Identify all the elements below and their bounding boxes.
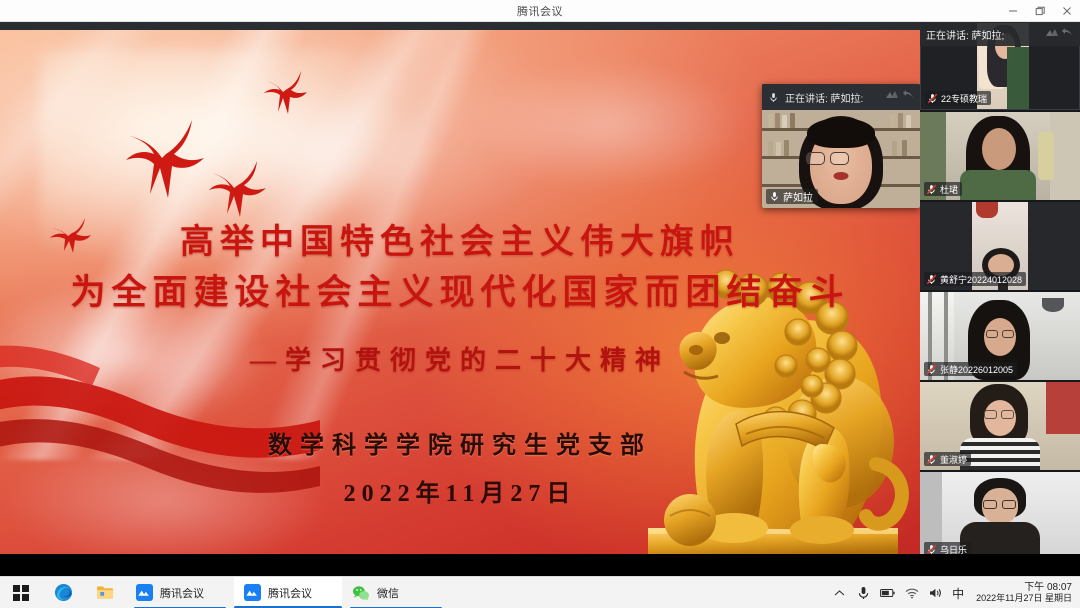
pip-speaking-label: 正在讲话: 萨如拉: — [785, 90, 863, 105]
windows-taskbar: 腾讯会议 腾讯会议 微信 — [0, 576, 1080, 608]
battery-icon[interactable] — [880, 586, 895, 601]
active-speaker-pip[interactable]: 正在讲话: 萨如拉: — [762, 84, 920, 208]
slide-organization: 数学科学学院研究生党支部 — [0, 425, 920, 460]
clock-date: 2022年11月27日 星期日 — [976, 593, 1072, 604]
clock-time: 下午 08:07 — [976, 582, 1072, 593]
system-tray: 中 下午 08:07 2022年11月27日 星期日 — [832, 577, 1080, 608]
pip-speaker-name: 萨如拉 — [783, 189, 813, 204]
close-button[interactable] — [1053, 0, 1080, 22]
microphone-icon — [768, 92, 779, 103]
mic-muted-icon — [926, 454, 937, 465]
tencent-meeting-icon — [244, 584, 261, 601]
wechat-icon — [352, 585, 370, 601]
participant-tile[interactable]: 黄舒宁20224012028 — [920, 202, 1080, 290]
taskbar-app-label: 腾讯会议 — [160, 585, 204, 601]
tencent-meeting-window: 腾讯会议 — [0, 0, 1080, 608]
slide-title-line2: 为全面建设社会主义现代化国家而团结奋斗 — [0, 264, 920, 315]
participant-name-chip: 张静20226012005 — [924, 362, 1017, 376]
collapse-icon[interactable] — [885, 89, 899, 101]
ime-indicator[interactable]: 中 — [952, 585, 964, 602]
mic-muted-icon — [926, 544, 937, 555]
participant-name-chip: 杜珺 — [924, 182, 962, 196]
slide-subtitle: —学习贯彻党的二十大精神 — [0, 340, 920, 377]
rail-speaking-label: 正在讲话: 萨如拉; — [926, 27, 1004, 42]
eyeglasses-icon — [830, 152, 849, 165]
window-titlebar: 腾讯会议 — [0, 0, 1080, 22]
edge-browser-icon[interactable] — [42, 577, 84, 608]
participant-name: 黄舒宁20224012028 — [940, 273, 1022, 286]
collapse-icon[interactable] — [1045, 27, 1059, 39]
participant-tile[interactable]: 董淑婷 — [920, 382, 1080, 470]
pip-video: 萨如拉 — [762, 110, 920, 208]
slide-date: 2022年11月27日 — [0, 473, 920, 508]
participant-name: 董淑婷 — [940, 453, 967, 466]
taskbar-clock[interactable]: 下午 08:07 2022年11月27日 星期日 — [973, 582, 1072, 604]
participant-tile[interactable]: 张静20226012005 — [920, 292, 1080, 380]
back-arrow-icon[interactable] — [1062, 27, 1074, 39]
taskbar-app-tencent-meeting-2[interactable]: 腾讯会议 — [234, 577, 342, 608]
pip-header: 正在讲话: 萨如拉: — [762, 84, 920, 110]
taskbar-app-label: 腾讯会议 — [268, 585, 312, 601]
start-button[interactable] — [0, 577, 42, 608]
participant-name: 22专硕教瑞 — [941, 92, 987, 105]
participant-name-chip: 董淑婷 — [924, 452, 971, 466]
taskbar-app-tencent-meeting-1[interactable]: 腾讯会议 — [126, 577, 234, 608]
file-explorer-icon[interactable] — [84, 577, 126, 608]
show-hidden-icons-chevron[interactable] — [832, 586, 847, 601]
participant-name-chip: 乌日乐 — [924, 542, 971, 554]
shared-screen-stage[interactable]: 高举中国特色社会主义伟大旗帜 为全面建设社会主义现代化国家而团结奋斗 —学习贯彻… — [0, 22, 920, 554]
mic-muted-icon — [926, 184, 937, 195]
eyeglasses-icon — [806, 152, 825, 165]
back-arrow-icon[interactable] — [903, 89, 915, 101]
tencent-meeting-icon — [136, 584, 153, 601]
window-controls — [999, 0, 1080, 22]
participant-tile[interactable]: 乌日乐 — [920, 472, 1080, 554]
rail-speaking-banner: 正在讲话: 萨如拉; — [920, 22, 1080, 46]
mic-muted-icon — [926, 364, 937, 375]
pip-name-chip: 萨如拉 — [766, 189, 818, 204]
participant-name-chip: 22专硕教瑞 — [925, 91, 991, 105]
mic-muted-icon — [927, 93, 938, 104]
participant-name-chip: 黄舒宁20224012028 — [924, 272, 1026, 286]
volume-icon[interactable] — [928, 586, 943, 601]
rail-banner-icons[interactable] — [1045, 27, 1074, 39]
window-title: 腾讯会议 — [517, 3, 563, 19]
taskbar-app-wechat[interactable]: 微信 — [342, 577, 450, 608]
slide-title-line1: 高举中国特色社会主义伟大旗帜 — [0, 214, 920, 263]
participant-rail[interactable]: 正在讲话: 萨如拉; — [920, 22, 1080, 554]
taskbar-app-label: 微信 — [377, 585, 399, 601]
microphone-tray-icon[interactable] — [856, 586, 871, 601]
restore-button[interactable] — [1026, 0, 1053, 22]
participant-name: 张静20226012005 — [940, 363, 1013, 376]
participant-tile[interactable]: 杜珺 — [920, 112, 1080, 200]
participant-name: 乌日乐 — [940, 543, 967, 555]
mic-muted-icon — [926, 274, 937, 285]
minimize-button[interactable] — [999, 0, 1026, 22]
participant-name: 杜珺 — [940, 183, 958, 196]
microphone-icon — [769, 191, 780, 202]
pip-window-icons[interactable] — [885, 89, 915, 101]
wifi-icon[interactable] — [904, 586, 919, 601]
